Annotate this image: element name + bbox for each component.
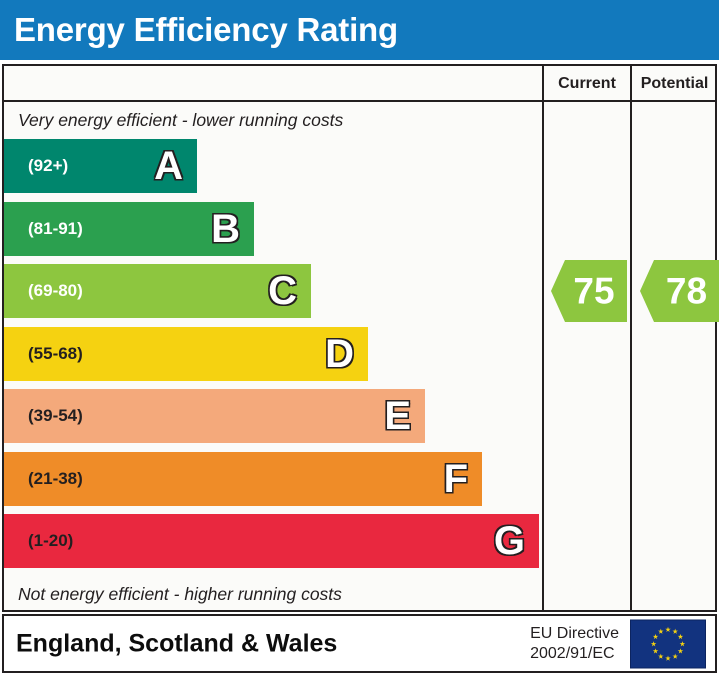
band-range-a: (92+) — [28, 156, 68, 176]
band-d: (55-68)D — [4, 327, 368, 381]
footer-directive: EU Directive 2002/91/EC — [530, 624, 619, 664]
caption-efficient: Very energy efficient - lower running co… — [18, 110, 343, 131]
column-divider-current — [542, 66, 544, 610]
directive-line-2: 2002/91/EC — [530, 644, 619, 664]
band-f: (21-38)F — [4, 452, 482, 506]
band-letter-d: D — [325, 334, 354, 374]
band-g: (1-20)G — [4, 514, 539, 568]
footer-region-label: England, Scotland & Wales — [16, 629, 337, 658]
band-letter-e: E — [384, 396, 411, 436]
page-title: Energy Efficiency Rating — [14, 11, 398, 49]
rating-value-potential: 78 — [640, 273, 719, 310]
band-range-c: (69-80) — [28, 281, 83, 301]
directive-line-1: EU Directive — [530, 624, 619, 644]
band-letter-c: C — [268, 271, 297, 311]
column-header-row: Current Potential — [4, 66, 715, 102]
band-letter-b: B — [211, 209, 240, 249]
column-header-potential: Potential — [632, 66, 717, 102]
rating-arrow-current: 75 — [551, 260, 627, 322]
band-letter-g: G — [494, 521, 525, 561]
band-b: (81-91)B — [4, 202, 254, 256]
band-a: (92+)A — [4, 139, 197, 193]
caption-inefficient: Not energy efficient - higher running co… — [18, 584, 342, 605]
column-header-current: Current — [544, 66, 630, 102]
epc-certificate: Energy Efficiency Rating Current Potenti… — [0, 0, 719, 675]
footer: England, Scotland & Wales EU Directive 2… — [2, 614, 717, 673]
band-letter-f: F — [444, 459, 468, 499]
title-bar: Energy Efficiency Rating — [0, 0, 719, 60]
band-range-e: (39-54) — [28, 406, 83, 426]
column-divider-potential — [630, 66, 632, 610]
rating-value-current: 75 — [551, 273, 627, 310]
band-range-g: (1-20) — [28, 531, 73, 551]
rating-arrow-potential: 78 — [640, 260, 719, 322]
band-range-d: (55-68) — [28, 344, 83, 364]
band-list: (92+)A(81-91)B(69-80)C(55-68)D(39-54)E(2… — [4, 139, 542, 579]
band-e: (39-54)E — [4, 389, 425, 443]
band-c: (69-80)C — [4, 264, 311, 318]
band-range-f: (21-38) — [28, 469, 83, 489]
band-range-b: (81-91) — [28, 219, 83, 239]
band-letter-a: A — [154, 146, 183, 186]
rating-chart: Current Potential Very energy efficient … — [2, 64, 717, 612]
eu-flag-icon — [630, 619, 706, 668]
